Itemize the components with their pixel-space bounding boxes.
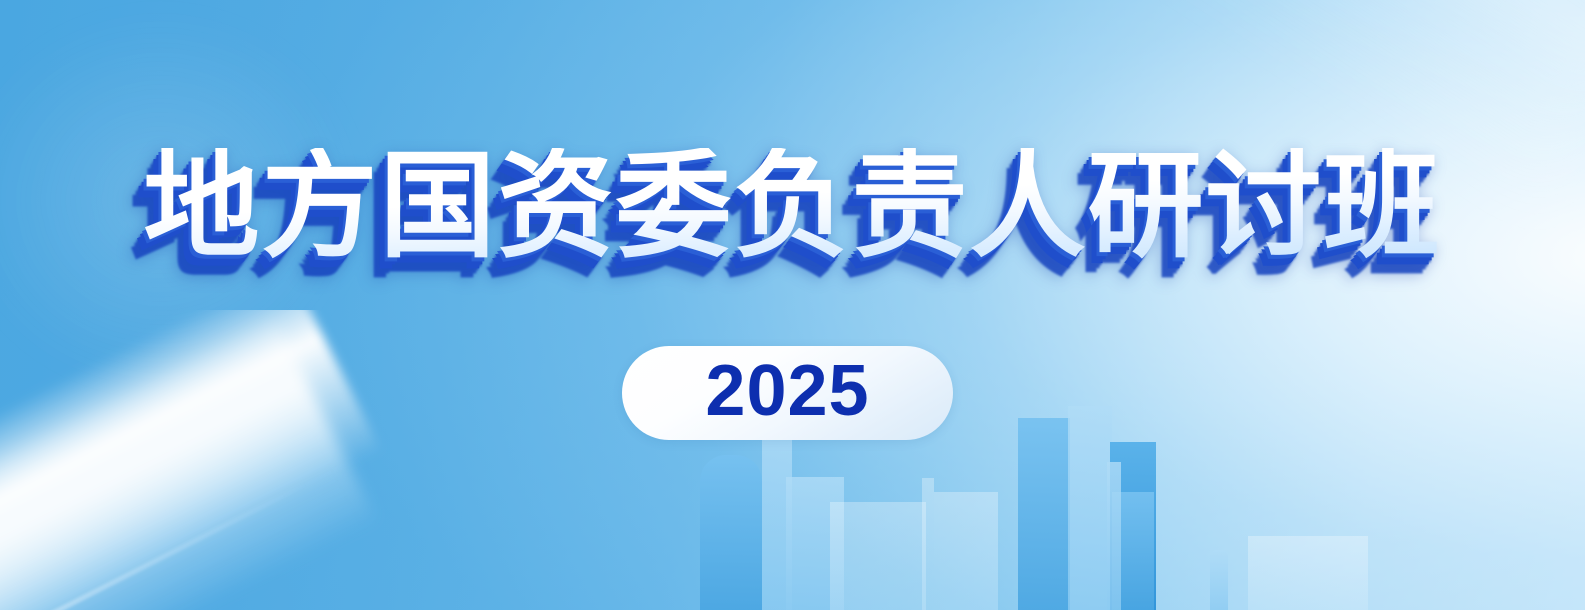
building-tower-slab-center [934,492,998,610]
banner-title-row: 地方国资委负责人研讨班 [0,148,1585,264]
building-tower-left-dark [1018,418,1070,610]
building-tower-rounded-left [700,455,762,610]
year-badge: 2025 [622,346,953,440]
page-title: 地方国资委负责人研讨班 [144,148,1442,264]
building-tower-tall-mid [1068,406,1112,610]
bottom-left-white-swoosh [0,310,560,610]
building-tower-small-right [1210,550,1228,610]
building-tower-notch-right [1107,462,1121,610]
event-banner: 地方国资委负责人研讨班 2025 [0,0,1585,610]
year-badge-label: 2025 [705,355,869,431]
building-tower-haze-right [1248,536,1368,610]
building-tower-wide-center [830,502,926,610]
building-tower-thin-center [922,478,934,610]
